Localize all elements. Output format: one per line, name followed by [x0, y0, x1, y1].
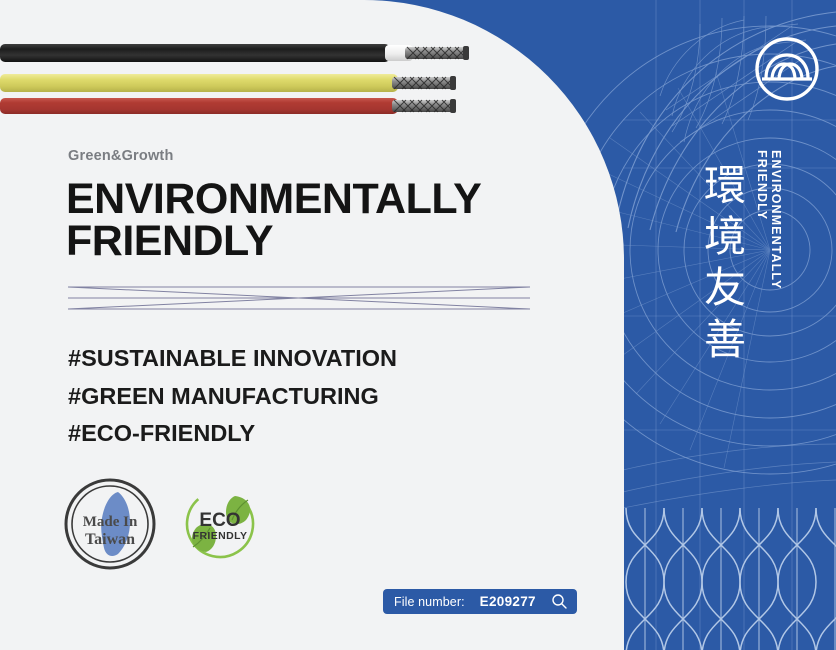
file-number-value: E209277 [480, 594, 536, 609]
eco-line-2: FRIENDLY [193, 530, 248, 542]
poster-canvas: 環 境 友 善 ENVIRONMENTALLY FRIENDLY [0, 0, 836, 650]
english-vertical-line-2: FRIENDLY [755, 150, 769, 220]
english-vertical-text: ENVIRONMENTALLY FRIENDLY [763, 150, 787, 350]
ogee-lattice-pattern [626, 508, 836, 650]
search-icon[interactable] [551, 593, 568, 610]
chinese-char-3: 友 [697, 262, 753, 313]
crossing-lines-graphic-icon [64, 278, 534, 318]
eco-line-1: ECO [199, 510, 240, 531]
hashtag-item-3: #ECO-FRIENDLY [68, 415, 397, 453]
headline-line-1: ENVIRONMENTALLY [66, 178, 481, 220]
page-title: ENVIRONMENTALLY FRIENDLY [66, 178, 481, 262]
file-number-label: File number: [394, 595, 465, 609]
headline-line-2: FRIENDLY [66, 220, 481, 262]
yellow-cable [0, 74, 456, 92]
mit-line-2: Taiwan [85, 531, 135, 548]
cable-product-illustration [0, 28, 520, 128]
chinese-char-1: 環 [697, 160, 753, 211]
eyebrow-label: Green&Growth [68, 148, 174, 164]
hashtag-item-2: #GREEN MANUFACTURING [68, 378, 397, 416]
chinese-vertical-headline: 環 境 友 善 [697, 160, 753, 365]
hashtag-list: #SUSTAINABLE INNOVATION #GREEN MANUFACTU… [68, 340, 397, 453]
file-number-badge[interactable]: File number: E209277 [383, 589, 577, 614]
red-cable [0, 98, 456, 114]
hashtag-item-1: #SUSTAINABLE INNOVATION [68, 340, 397, 378]
certification-badges: Made In Taiwan ECO FRIENDLY [62, 476, 260, 572]
black-cable [0, 44, 469, 62]
chinese-char-2: 境 [697, 211, 753, 262]
white-content-card: Green&Growth ENVIRONMENTALLY FRIENDLY #S… [0, 0, 624, 650]
english-vertical-line-1: ENVIRONMENTALLY [769, 150, 783, 289]
mit-line-1: Made In [83, 514, 138, 530]
made-in-taiwan-badge: Made In Taiwan [62, 476, 158, 572]
triple-arch-circle-logo-icon [754, 36, 820, 102]
chinese-char-4: 善 [697, 314, 753, 365]
eco-friendly-badge: ECO FRIENDLY [180, 484, 260, 564]
